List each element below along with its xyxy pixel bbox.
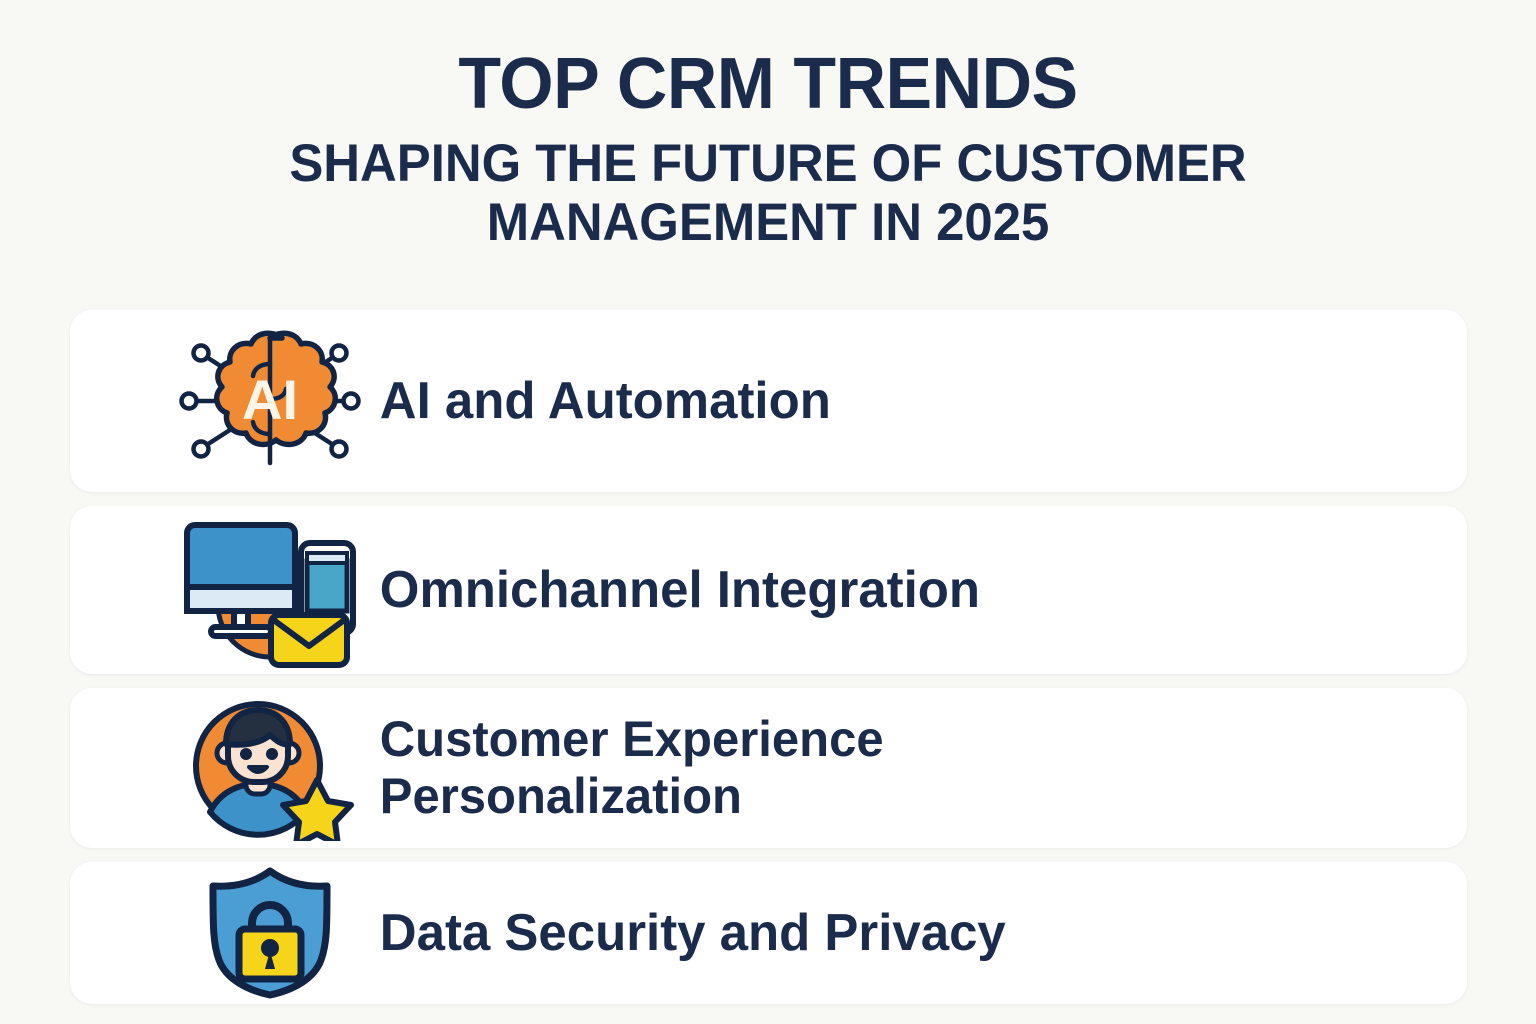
- page-title: TOP CRM TRENDS: [23, 48, 1513, 120]
- infographic-page: TOP CRM TRENDS SHAPING THE FUTURE OF CUS…: [0, 0, 1536, 1024]
- trend-card-list: AI AI and Automation: [70, 310, 1467, 1018]
- trend-card-data-security-and-privacy[interactable]: Data Security and Privacy: [70, 862, 1467, 1004]
- trend-label: Omnichannel Integration: [370, 562, 980, 618]
- trend-card-ai-and-automation[interactable]: AI AI and Automation: [70, 310, 1467, 492]
- shield-lock-icon: [170, 863, 370, 1003]
- trend-label: Customer Experience Personalization: [370, 711, 884, 825]
- page-subtitle: SHAPING THE FUTURE OF CUSTOMER MANAGEMEN…: [158, 134, 1377, 253]
- ai-brain-icon: AI: [170, 326, 370, 476]
- ai-label: AI: [242, 368, 298, 431]
- trend-label: Data Security and Privacy: [370, 905, 1006, 961]
- customer-avatar-star-icon: [170, 696, 370, 841]
- heading-block: TOP CRM TRENDS SHAPING THE FUTURE OF CUS…: [0, 0, 1536, 253]
- trend-card-omnichannel-integration[interactable]: Omnichannel Integration: [70, 506, 1467, 674]
- trend-card-customer-experience-personalization[interactable]: Customer Experience Personalization: [70, 688, 1467, 848]
- omnichannel-devices-icon: [170, 513, 370, 668]
- trend-label: AI and Automation: [370, 373, 831, 429]
